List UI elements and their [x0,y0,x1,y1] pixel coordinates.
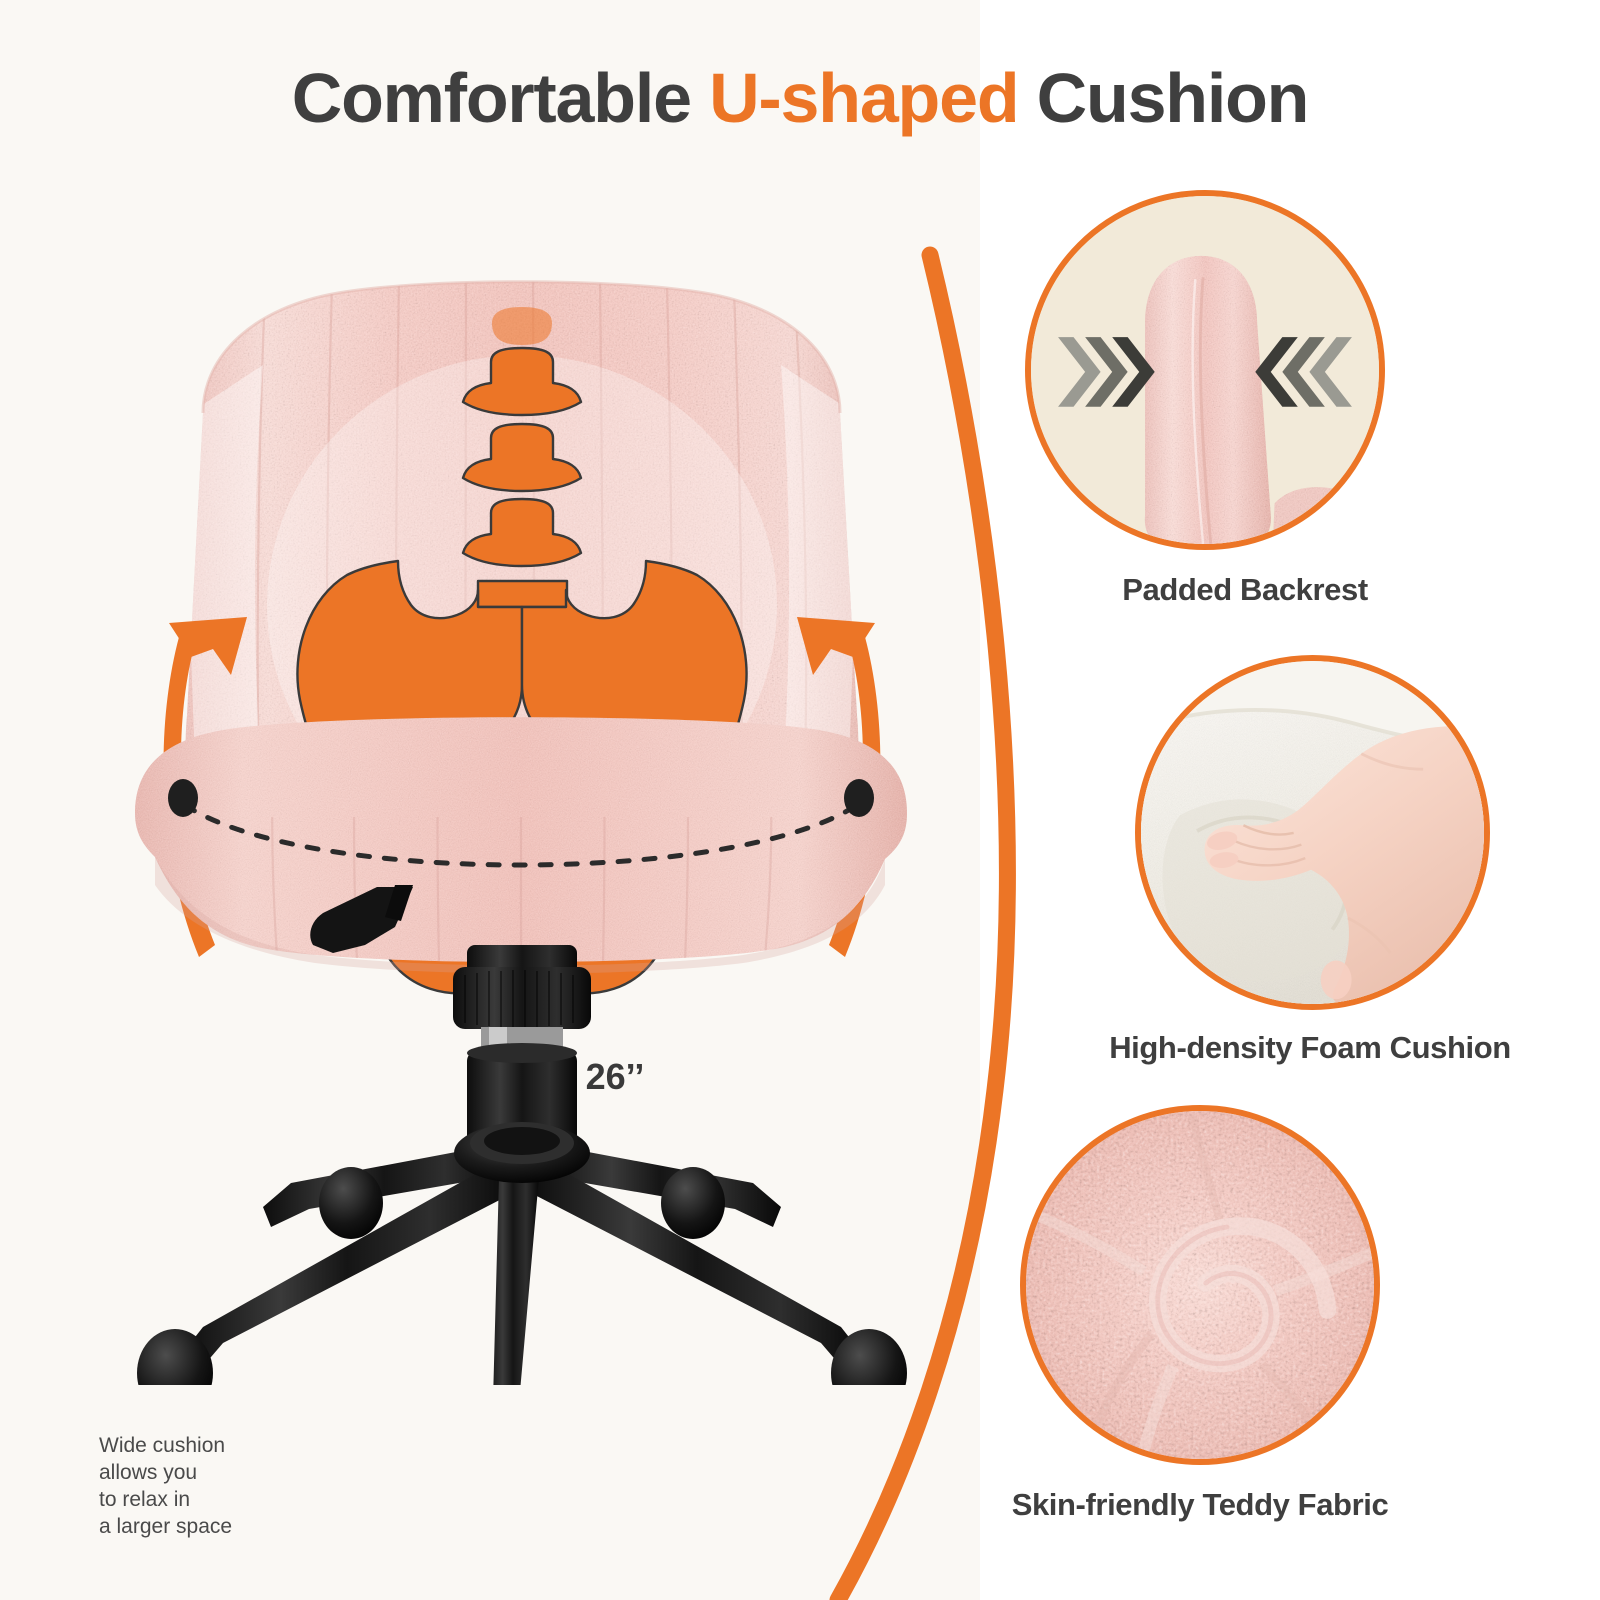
caption-line-3: to relax in [99,1486,232,1513]
infographic-page: Comfortable U-shaped Cushion [0,0,1600,1600]
page-title: Comfortable U-shaped Cushion [0,58,1600,138]
feature-foam-cushion-image [1135,655,1490,1010]
feature-teddy-fabric-image [1020,1105,1380,1465]
feature-padded-backrest: Padded Backrest [1025,190,1385,550]
caption-line-1: Wide cushion [99,1432,232,1459]
chair-seat [135,709,907,974]
chair-base [181,1122,863,1385]
seat-width-label: 26’’ [95,1056,1135,1098]
chair-illustration: 26’’ [95,245,955,1385]
chair-svg [95,245,955,1385]
feature-foam-cushion-label: High-density Foam Cushion [1075,1030,1545,1066]
title-highlight: U-shaped [709,59,1018,137]
caption-line-2: allows you [99,1459,232,1486]
title-part-1: Comfortable [292,59,709,137]
caption-line-4: a larger space [99,1513,232,1540]
feature-padded-backrest-label: Padded Backrest [1065,572,1425,608]
feature-foam-cushion: High-density Foam Cushion [1135,655,1490,1010]
feature-teddy-fabric: Skin-friendly Teddy Fabric [1020,1105,1380,1465]
feature-padded-backrest-image [1025,190,1385,550]
padded-backrest-art [1031,196,1379,544]
foam-cushion-art [1141,661,1484,1004]
feature-teddy-fabric-label: Skin-friendly Teddy Fabric [970,1487,1430,1523]
teddy-fabric-art [1026,1111,1374,1459]
title-part-2: Cushion [1018,59,1308,137]
wide-cushion-caption: Wide cushion allows you to relax in a la… [99,1432,232,1540]
